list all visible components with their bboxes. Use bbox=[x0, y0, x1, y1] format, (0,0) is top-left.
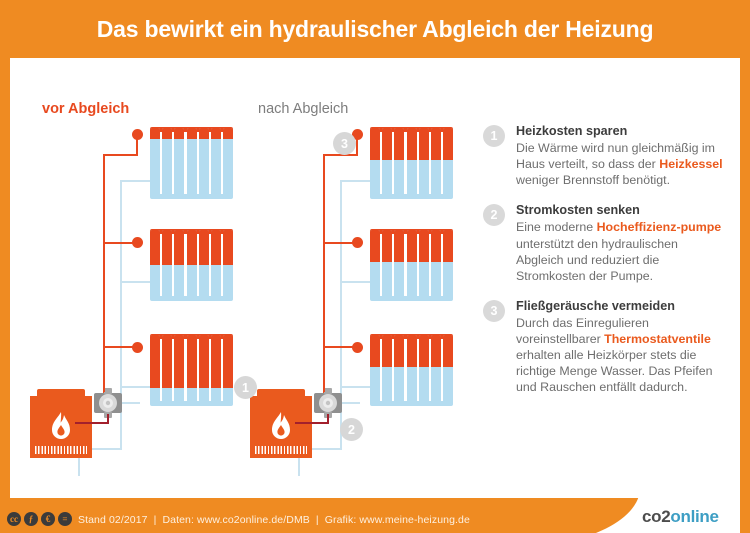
branch-cold-mid bbox=[340, 281, 372, 283]
radiator-fin bbox=[223, 230, 233, 300]
benefit-body-1: Die Wärme wird nun gleichmäßig im Haus v… bbox=[516, 140, 723, 188]
radiator-fin bbox=[223, 335, 233, 405]
header-bar: Das bewirkt ein hydraulischer Abgleich d… bbox=[0, 0, 750, 58]
radiator-fin bbox=[150, 128, 160, 198]
branch-cold-mid bbox=[120, 281, 152, 283]
benefit-highlight-3: Thermostatventile bbox=[604, 332, 711, 346]
boiler-lid bbox=[37, 389, 85, 396]
boiler-return-riser bbox=[107, 414, 109, 424]
cc-icon: cc bbox=[7, 512, 21, 526]
radiator-fin bbox=[431, 128, 441, 198]
thermostat-valve bbox=[352, 342, 363, 353]
radiator-bar-bottom bbox=[370, 401, 453, 406]
radiator-bar-bottom bbox=[370, 296, 453, 301]
pump-cold-side bbox=[122, 402, 140, 404]
radiator-fin bbox=[382, 230, 392, 300]
radiator-fin bbox=[407, 128, 417, 198]
radiator-fin bbox=[431, 335, 441, 405]
radiator-fin bbox=[443, 335, 453, 405]
radiator-fin bbox=[394, 335, 404, 405]
diagram-before bbox=[20, 118, 245, 473]
boiler bbox=[250, 396, 312, 458]
boiler-vent bbox=[255, 446, 307, 454]
cc-by-icon: ƒ bbox=[24, 512, 38, 526]
footer-sep-2: | bbox=[310, 514, 325, 526]
radiator-fin bbox=[211, 230, 221, 300]
branch-cold-bot bbox=[120, 386, 152, 388]
radiator-fin bbox=[382, 128, 392, 198]
radiator-fins bbox=[150, 335, 233, 405]
radiator-fin bbox=[162, 335, 172, 405]
benefit-badge-2: 2 bbox=[483, 204, 505, 226]
radiator-fin bbox=[370, 335, 380, 405]
radiator-fins bbox=[370, 230, 453, 300]
caption-after: nach Abgleich bbox=[258, 101, 348, 117]
footer-daten: Daten: www.co2online.de/DMB bbox=[162, 514, 309, 526]
radiator-bot-after bbox=[370, 335, 453, 405]
benefit-badge-1: 1 bbox=[483, 125, 505, 147]
logo-co2: co2 bbox=[642, 507, 670, 526]
radiator-bar-bottom bbox=[150, 401, 233, 406]
footer-grafik: Grafik: www.meine-heizung.de bbox=[325, 514, 470, 526]
cc-nd-icon: = bbox=[58, 512, 72, 526]
thermostat-valve bbox=[132, 237, 143, 248]
radiator-bar-bottom bbox=[150, 296, 233, 301]
thermostat-valve bbox=[132, 342, 143, 353]
boiler-return-pipe bbox=[75, 422, 109, 424]
radiator-fin bbox=[174, 335, 184, 405]
radiator-fin bbox=[419, 230, 429, 300]
benefit-item-3: 3 Fließgeräusche vermeiden Durch das Ein… bbox=[483, 299, 723, 396]
radiator-fin bbox=[211, 128, 221, 198]
supply-pipe-hot bbox=[323, 154, 325, 406]
supply-pipe-hot bbox=[103, 154, 105, 406]
creative-commons-badges: cc ƒ € = bbox=[7, 512, 72, 526]
branch-cold-bot bbox=[340, 386, 372, 388]
caption-before: vor Abgleich bbox=[42, 101, 129, 117]
logo-area: co2online bbox=[550, 498, 750, 533]
radiator-fin bbox=[394, 128, 404, 198]
radiator-fin bbox=[174, 128, 184, 198]
branch-hot-top bbox=[103, 154, 138, 156]
thermostat-valve bbox=[132, 129, 143, 140]
diagram-badge-3: 3 bbox=[333, 132, 356, 155]
radiator-fin bbox=[187, 335, 197, 405]
radiator-fin bbox=[431, 230, 441, 300]
page-title: Das bewirkt ein hydraulischer Abgleich d… bbox=[97, 16, 654, 43]
radiator-fin bbox=[162, 128, 172, 198]
logo-online: online bbox=[670, 507, 718, 526]
radiator-fin bbox=[174, 230, 184, 300]
radiator-fins bbox=[370, 128, 453, 198]
boiler-lid bbox=[257, 389, 305, 396]
radiator-fin bbox=[407, 335, 417, 405]
benefit-badge-3: 3 bbox=[483, 300, 505, 322]
radiator-fins bbox=[370, 335, 453, 405]
boiler bbox=[30, 396, 92, 458]
radiator-fin bbox=[211, 335, 221, 405]
boiler-return-riser bbox=[327, 414, 329, 424]
radiator-fin bbox=[370, 128, 380, 198]
footer-stand: Stand 02/2017 bbox=[78, 514, 148, 526]
radiator-bar-bottom bbox=[370, 194, 453, 199]
flame-icon bbox=[48, 411, 74, 448]
radiator-top-before bbox=[150, 128, 233, 198]
flame-icon bbox=[268, 411, 294, 448]
benefit-body-3: Durch das Einregulieren voreinstellbarer… bbox=[516, 315, 723, 396]
pump-cold-side bbox=[342, 402, 360, 404]
benefit-title-2: Stromkosten senken bbox=[516, 203, 723, 217]
benefit-item-1: 1 Heizkosten sparen Die Wärme wird nun g… bbox=[483, 124, 723, 188]
radiator-bar-bottom bbox=[150, 194, 233, 199]
radiator-fin bbox=[370, 230, 380, 300]
branch-cold-top bbox=[120, 180, 152, 182]
radiator-fin bbox=[187, 128, 197, 198]
radiator-fin bbox=[150, 335, 160, 405]
benefit-title-3: Fließgeräusche vermeiden bbox=[516, 299, 723, 313]
pump-to-riser bbox=[103, 380, 105, 392]
footer-sep-1: | bbox=[148, 514, 163, 526]
pump-to-riser bbox=[323, 380, 325, 392]
benefit-item-2: 2 Stromkosten senken Eine moderne Hochef… bbox=[483, 203, 723, 284]
footer-credits: Stand 02/2017|Daten: www.co2online.de/DM… bbox=[78, 514, 470, 526]
radiator-fin bbox=[162, 230, 172, 300]
radiator-fin bbox=[199, 335, 209, 405]
benefit-body-post-3: erhalten alle Heizkörper stets die richt… bbox=[516, 348, 713, 394]
benefit-highlight-1: Heizkessel bbox=[659, 157, 722, 171]
benefit-highlight-2: Hocheffizienz-pumpe bbox=[597, 220, 722, 234]
diagram-badge-1: 1 bbox=[234, 376, 257, 399]
infographic-root: Das bewirkt ein hydraulischer Abgleich d… bbox=[0, 0, 750, 533]
radiator-mid-after bbox=[370, 230, 453, 300]
radiator-fin bbox=[407, 230, 417, 300]
radiator-fins bbox=[150, 128, 233, 198]
radiator-top-after bbox=[370, 128, 453, 198]
radiator-mid-before bbox=[150, 230, 233, 300]
benefit-body-2: Eine moderne Hocheffizienz-pumpe unterst… bbox=[516, 219, 723, 284]
logo-curve-decoration bbox=[550, 498, 640, 533]
benefit-body-pre-2: Eine moderne bbox=[516, 220, 597, 234]
radiator-fin bbox=[419, 128, 429, 198]
radiator-fin bbox=[199, 128, 209, 198]
logo-right-bar bbox=[740, 498, 750, 533]
radiator-fin bbox=[187, 230, 197, 300]
diagram-after: 3 bbox=[240, 118, 470, 473]
boiler-return-pipe bbox=[295, 422, 329, 424]
radiator-fin bbox=[419, 335, 429, 405]
radiator-fin bbox=[394, 230, 404, 300]
diagram-badge-2: 2 bbox=[340, 418, 363, 441]
radiator-fin bbox=[443, 230, 453, 300]
radiator-bot-before bbox=[150, 335, 233, 405]
radiator-fins bbox=[150, 230, 233, 300]
co2online-logo: co2online bbox=[642, 507, 719, 527]
radiator-fin bbox=[150, 230, 160, 300]
radiator-fin bbox=[199, 230, 209, 300]
boiler-vent bbox=[35, 446, 87, 454]
benefit-body-post-2: unterstützt den hydraulischen Abgleich u… bbox=[516, 237, 678, 283]
radiator-fin bbox=[382, 335, 392, 405]
radiator-fin bbox=[443, 128, 453, 198]
benefits-list: 1 Heizkosten sparen Die Wärme wird nun g… bbox=[483, 124, 723, 411]
branch-cold-top bbox=[340, 180, 372, 182]
benefit-body-post-1: weniger Brennstoff benötigt. bbox=[516, 173, 670, 187]
benefit-title-1: Heizkosten sparen bbox=[516, 124, 723, 138]
thermostat-valve bbox=[352, 237, 363, 248]
cc-nc-icon: € bbox=[41, 512, 55, 526]
radiator-fin bbox=[223, 128, 233, 198]
